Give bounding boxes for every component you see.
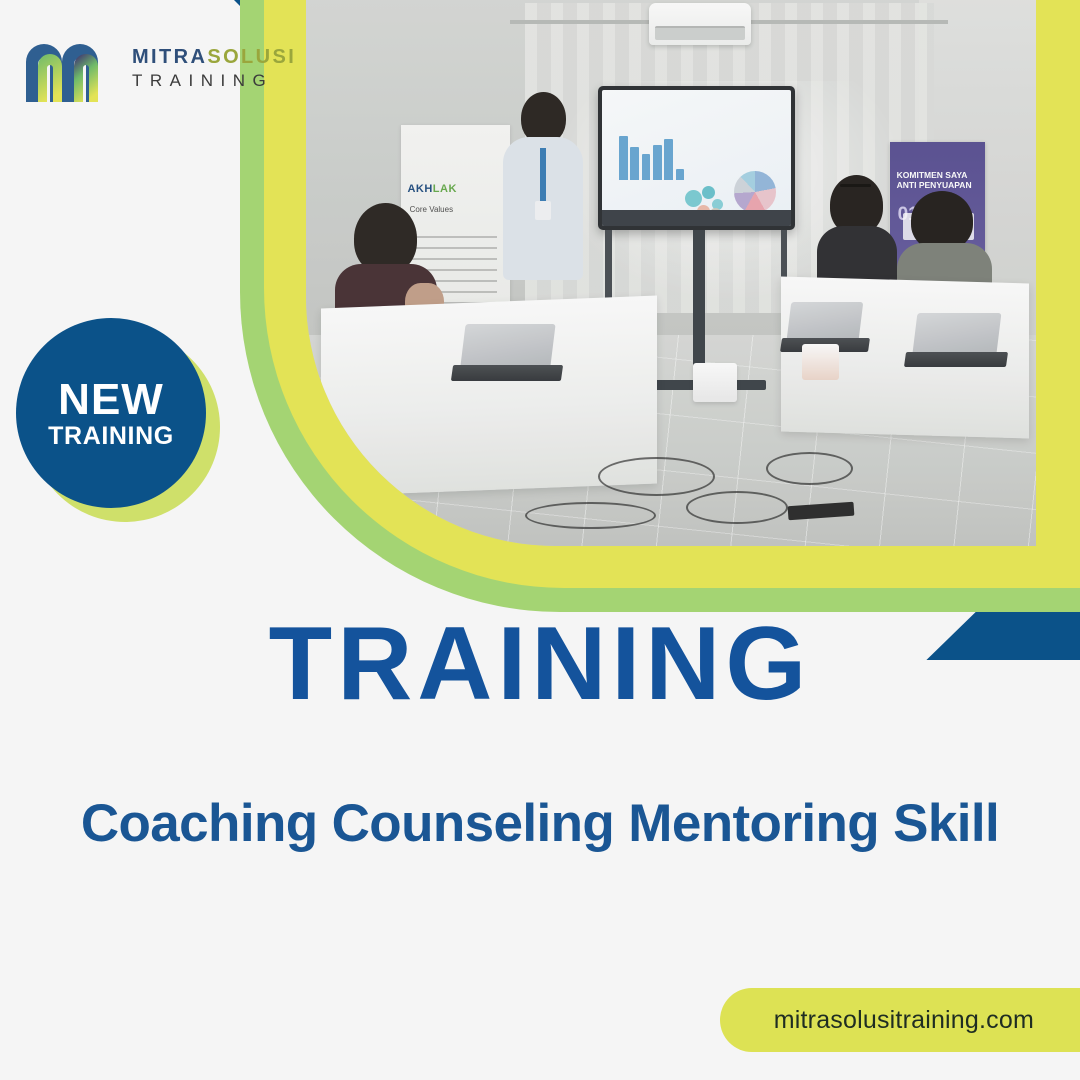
floor-cable <box>686 491 788 524</box>
screen-bar <box>619 136 628 180</box>
logo-line-2: TRAINING <box>132 72 296 91</box>
logo-word-mitra: MITRA <box>132 46 207 68</box>
screen-bubble <box>685 190 702 207</box>
screen-bar <box>642 154 651 180</box>
screen-bar <box>653 145 662 180</box>
glasses-icon <box>840 184 871 188</box>
laptop <box>452 324 562 413</box>
presenter-lanyard <box>540 148 546 205</box>
floor-cable <box>598 457 715 496</box>
banner-komitmen-title: KOMITMEN SAYA ANTI PENYUAPAN <box>897 170 982 191</box>
photo-scene: AKHLAK Core Values KOMITMEN SAYA ANTI PE… <box>306 0 1036 546</box>
laptop <box>905 313 1007 396</box>
badge-label-training: TRAINING <box>48 424 174 449</box>
logo-word-solusi: SOLUSI <box>207 46 296 68</box>
screen-dashboard <box>602 90 791 226</box>
banner-akhlak-accent: LAK <box>433 183 457 195</box>
laptop-lid <box>460 324 555 367</box>
page-subtitle: Coaching Counseling Mentoring Skill <box>0 795 1080 853</box>
page-title: TRAINING <box>0 612 1080 716</box>
website-pill[interactable]: mitrasolusitraining.com <box>720 988 1080 1052</box>
badge-circle: NEW TRAINING <box>16 318 206 508</box>
logo-wordmark: MITRASOLUSI TRAINING <box>132 46 296 91</box>
floor-cable <box>766 452 854 485</box>
air-conditioner <box>649 3 751 45</box>
ac-vent <box>655 26 745 40</box>
training-photo: AKHLAK Core Values KOMITMEN SAYA ANTI PE… <box>306 0 1036 546</box>
screen-bar <box>676 169 685 180</box>
presenter-badge <box>535 201 551 220</box>
person-presenter <box>503 92 583 280</box>
screen-pie-chart <box>734 171 776 213</box>
tissue-box <box>802 344 839 380</box>
badge-label-new: NEW <box>58 378 164 422</box>
poster-canvas: AKHLAK Core Values KOMITMEN SAYA ANTI PE… <box>0 0 1080 1080</box>
banner-akhlak-title: AKHLAK <box>407 183 456 195</box>
photo-frame: AKHLAK Core Values KOMITMEN SAYA ANTI PE… <box>240 0 1080 612</box>
new-training-badge: NEW TRAINING <box>8 316 223 541</box>
presentation-screen <box>598 86 795 230</box>
tissue-box <box>693 363 737 402</box>
laptop-base <box>451 365 563 381</box>
website-url: mitrasolusitraining.com <box>774 1006 1034 1035</box>
screen-bar <box>664 139 673 180</box>
screen-toolbar <box>602 210 791 226</box>
laptop-base <box>904 352 1008 367</box>
screen-bar <box>630 147 639 180</box>
screen-bubble <box>702 186 715 199</box>
screen-stand-pole <box>693 230 705 385</box>
logo-mark-icon <box>22 32 122 104</box>
laptop-lid <box>787 302 863 339</box>
logo-line-1: MITRASOLUSI <box>132 46 296 68</box>
brand-logo: MITRASOLUSI TRAINING <box>22 32 292 116</box>
laptop-lid <box>912 313 1001 353</box>
